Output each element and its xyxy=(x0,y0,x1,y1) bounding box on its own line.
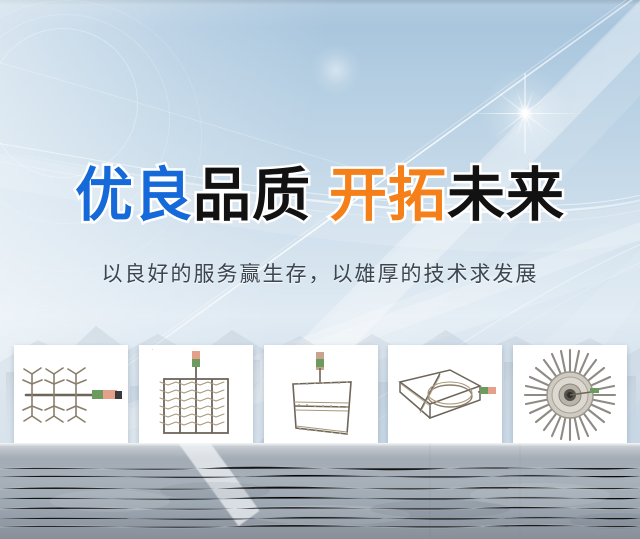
comb-type-anchor-rake-icon xyxy=(18,356,124,434)
radial-sunburst-anchor-wheel-icon xyxy=(522,347,618,443)
page-subtitle: 以良好的服务赢生存，以雄厚的技术求发展 xyxy=(0,258,640,288)
rectangular-mesh-panel-icon xyxy=(279,350,363,440)
title-part-3: 开拓 xyxy=(329,161,447,229)
product-thumbnail-strip xyxy=(14,345,627,445)
ground-texture xyxy=(0,443,640,539)
product-panel-2[interactable] xyxy=(139,345,253,444)
product-panel-1[interactable] xyxy=(14,345,128,444)
flat-frame-with-ring-icon xyxy=(394,360,496,430)
product-panel-3[interactable] xyxy=(264,345,378,444)
ground-surface xyxy=(0,443,640,539)
product-panel-4[interactable] xyxy=(388,345,502,444)
page-title: 优良品质开拓未来 xyxy=(0,166,640,224)
product-panel-5[interactable] xyxy=(513,345,627,444)
double-row-spike-frame-icon xyxy=(152,349,240,441)
title-part-4: 未来 xyxy=(447,161,565,229)
title-part-1: 优良 xyxy=(75,161,193,229)
promo-banner: 优良品质开拓未来 以良好的服务赢生存，以雄厚的技术求发展 xyxy=(0,0,640,539)
title-part-2: 品质 xyxy=(193,161,311,229)
